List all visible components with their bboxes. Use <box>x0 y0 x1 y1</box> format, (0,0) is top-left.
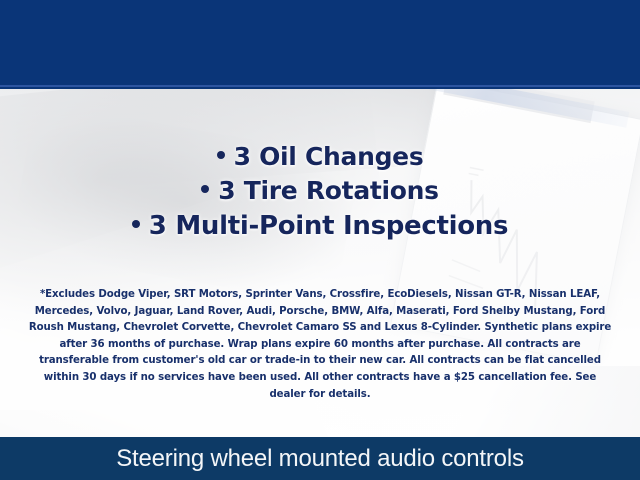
caption-label: Steering wheel mounted audio controls <box>116 445 524 473</box>
bullet-dot-icon <box>132 220 140 228</box>
disclaimer-text: *Excludes Dodge Viper, SRT Motors, Sprin… <box>26 287 614 403</box>
list-item: 3 Oil Changes <box>0 140 640 174</box>
benefits-list: 3 Oil Changes 3 Tire Rotations 3 Multi-P… <box>0 140 640 244</box>
bullet-dot-icon <box>217 151 225 159</box>
list-item: 3 Tire Rotations <box>0 174 640 208</box>
bullet-dot-icon <box>201 185 209 193</box>
benefit-label: 3 Oil Changes <box>234 142 424 171</box>
header-banner <box>0 0 640 89</box>
promo-slide: ExtraCare Package* 3 Oil Changes 3 Tire … <box>0 0 640 480</box>
list-item: 3 Multi-Point Inspections <box>0 208 640 244</box>
benefit-label: 3 Multi-Point Inspections <box>149 211 508 241</box>
header-divider-rule <box>0 85 640 87</box>
benefit-label: 3 Tire Rotations <box>218 176 439 205</box>
caption-banner: Steering wheel mounted audio controls <box>0 437 640 480</box>
